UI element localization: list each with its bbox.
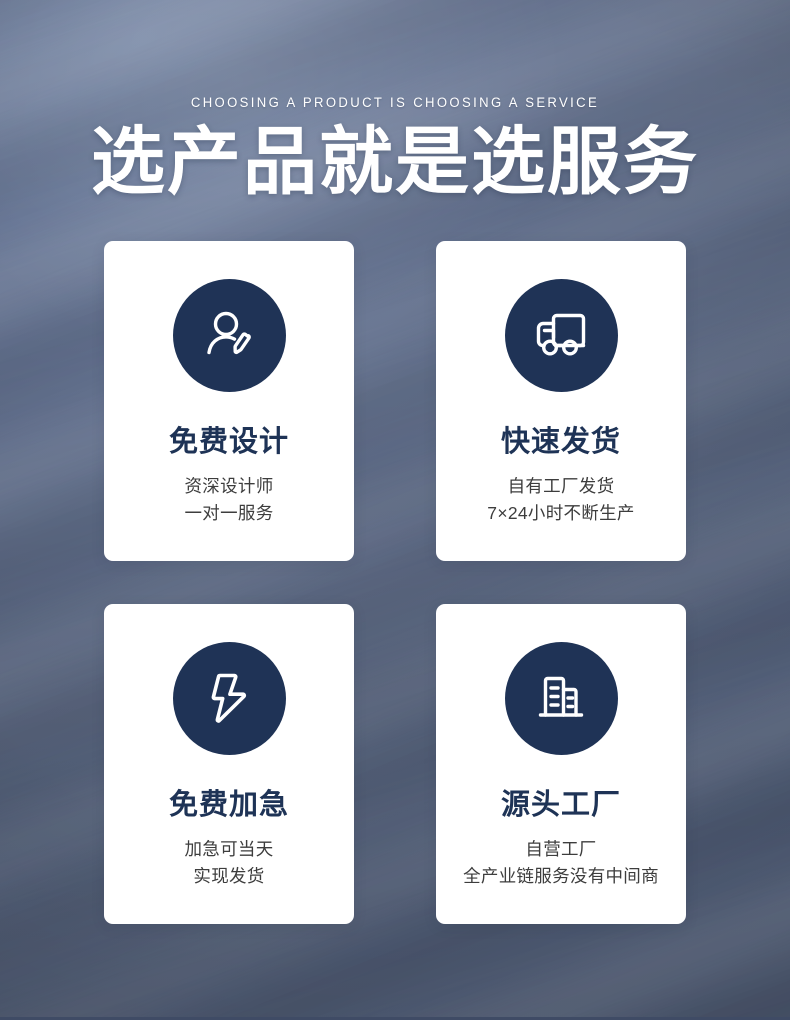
card-title: 免费设计 xyxy=(169,428,289,457)
service-card-free-rush[interactable]: 免费加急 加急可当天 实现发货 xyxy=(104,604,354,924)
card-title: 快速发货 xyxy=(501,428,621,457)
card-description-line-1: 自营工厂 xyxy=(525,839,596,859)
service-card-grid: 免费设计 资深设计师 一对一服务 xyxy=(104,241,686,924)
delivery-truck-icon xyxy=(530,304,592,366)
card-description-line-2: 7×24小时不断生产 xyxy=(487,500,634,527)
card-description-line-2: 实现发货 xyxy=(185,863,274,890)
card-description: 加急可当天 实现发货 xyxy=(185,836,274,889)
card-description: 自有工厂发货 7×24小时不断生产 xyxy=(487,473,634,526)
card-title: 源头工厂 xyxy=(501,791,621,820)
card-description-line-1: 资深设计师 xyxy=(185,476,274,496)
banner-content: CHOOSING A PRODUCT IS CHOOSING A SERVICE… xyxy=(0,95,790,924)
service-promise-banner: CHOOSING A PRODUCT IS CHOOSING A SERVICE… xyxy=(0,0,790,1020)
eyebrow-text: CHOOSING A PRODUCT IS CHOOSING A SERVICE xyxy=(12,95,778,110)
factory-building-icon xyxy=(530,667,592,729)
page-title: 选产品就是选服务 xyxy=(0,122,790,202)
card-description-line-2: 一对一服务 xyxy=(185,500,274,527)
service-card-fast-shipping[interactable]: 快速发货 自有工厂发货 7×24小时不断生产 xyxy=(436,241,686,561)
card-description-line-2: 全产业链服务没有中间商 xyxy=(463,863,659,890)
service-card-free-design[interactable]: 免费设计 资深设计师 一对一服务 xyxy=(104,241,354,561)
card-title: 免费加急 xyxy=(169,791,289,820)
icon-badge xyxy=(173,642,286,755)
icon-badge xyxy=(173,279,286,392)
card-description: 资深设计师 一对一服务 xyxy=(185,473,274,526)
service-card-source-factory[interactable]: 源头工厂 自营工厂 全产业链服务没有中间商 xyxy=(436,604,686,924)
card-description-line-1: 加急可当天 xyxy=(185,839,274,859)
person-pencil-icon xyxy=(198,304,260,366)
icon-badge xyxy=(505,279,618,392)
card-description: 自营工厂 全产业链服务没有中间商 xyxy=(463,836,659,889)
icon-badge xyxy=(505,642,618,755)
card-description-line-1: 自有工厂发货 xyxy=(508,476,615,496)
lightning-bolt-icon xyxy=(198,667,260,729)
